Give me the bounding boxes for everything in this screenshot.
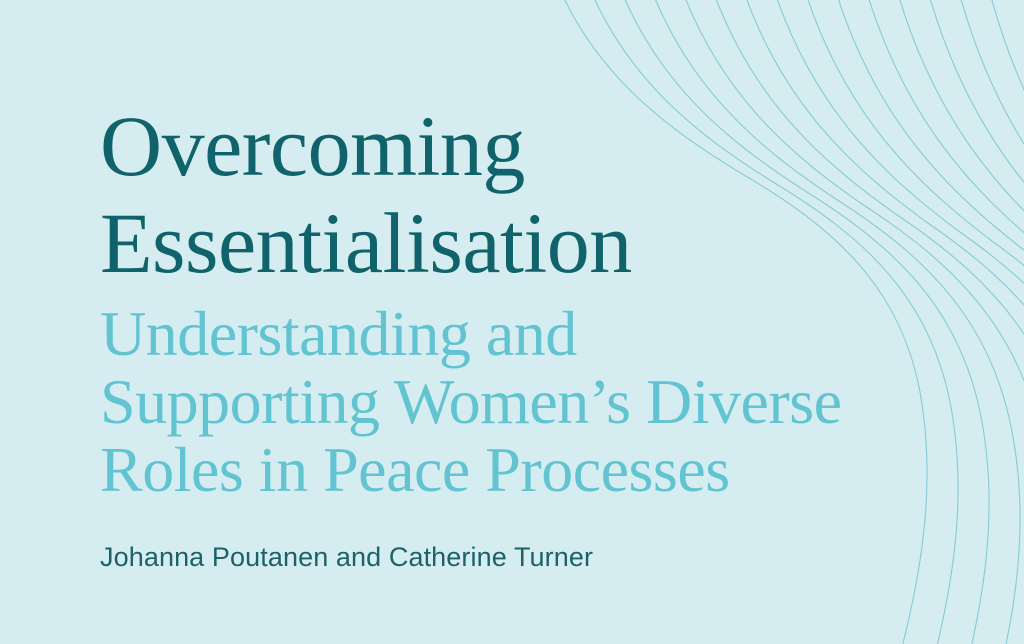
page-title: Overcoming Essentialisation: [100, 98, 920, 292]
cover-page: Overcoming Essentialisation Understandin…: [0, 0, 1024, 644]
authors: Johanna Poutanen and Catherine Turner: [100, 540, 920, 574]
subtitle-line-1: Understanding and: [100, 300, 920, 368]
wave-line: [920, 0, 1024, 644]
authors-line: Johanna Poutanen and Catherine Turner: [100, 540, 920, 574]
subtitle-line-2: Supporting Women’s Diverse: [100, 368, 920, 436]
cover-text-container: Overcoming Essentialisation Understandin…: [100, 0, 920, 644]
title-line-1: Overcoming: [100, 98, 920, 195]
wave-line: [951, 0, 1024, 644]
title-line-2: Essentialisation: [100, 195, 920, 292]
wave-line: [982, 0, 1024, 644]
subtitle-line-3: Roles in Peace Processes: [100, 436, 920, 504]
page-subtitle: Understanding and Supporting Women’s Div…: [100, 300, 920, 504]
